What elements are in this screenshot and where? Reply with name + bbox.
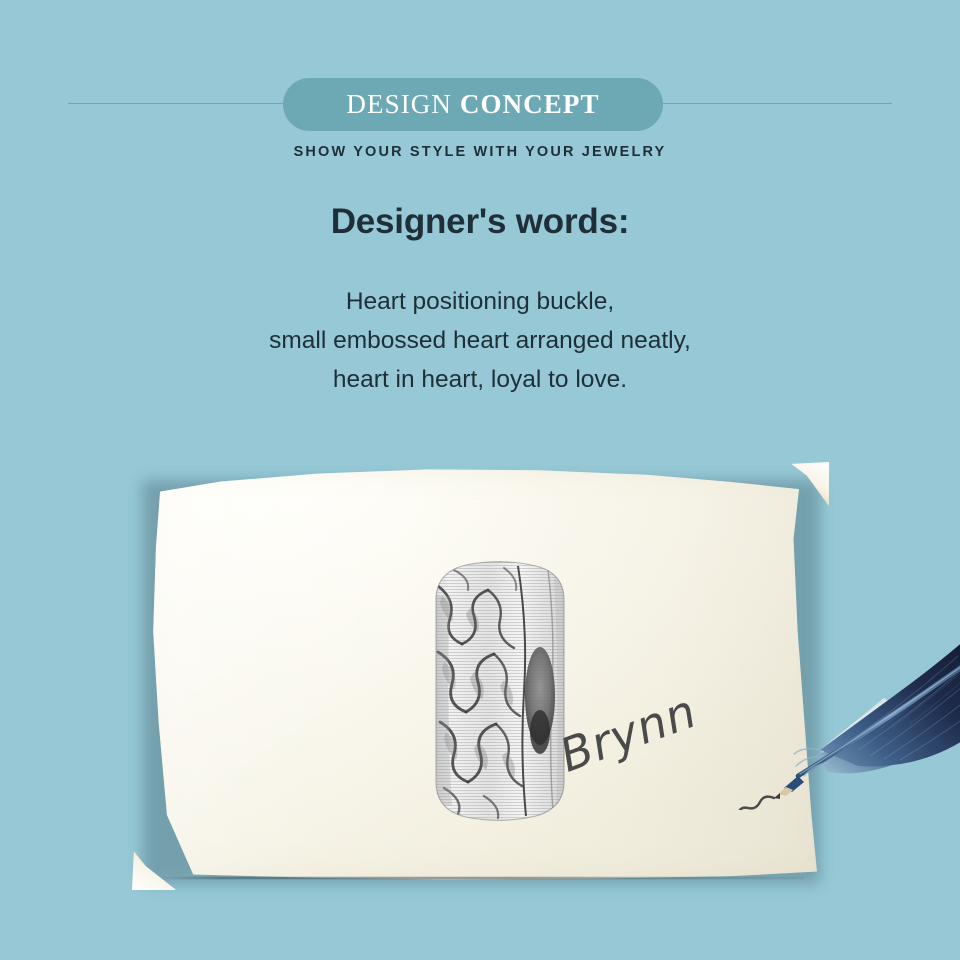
- header-badge-label-light: DESIGN: [346, 89, 452, 119]
- body-line-2: small embossed heart arranged neatly,: [0, 321, 960, 360]
- page-title: Designer's words:: [0, 202, 960, 242]
- sketch-paper-card: Brynn: [128, 452, 832, 892]
- header-badge-label-bold: CONCEPT: [460, 89, 600, 119]
- header-badge: DESIGN CONCEPT: [283, 78, 663, 131]
- paper-bottom-edge-shadow: [156, 877, 804, 879]
- body-line-3: heart in heart, loyal to love.: [0, 360, 960, 399]
- designer-words-paragraph: Heart positioning buckle, small embossed…: [0, 282, 960, 399]
- pencil-sketch-ring-icon: [408, 556, 594, 826]
- header-badge-label: DESIGN CONCEPT: [346, 89, 599, 120]
- body-line-1: Heart positioning buckle,: [0, 282, 960, 321]
- header-subtitle: SHOW YOUR STYLE WITH YOUR JEWELRY: [0, 144, 960, 160]
- design-concept-banner: DESIGN CONCEPT SHOW YOUR STYLE WITH YOUR…: [0, 0, 960, 960]
